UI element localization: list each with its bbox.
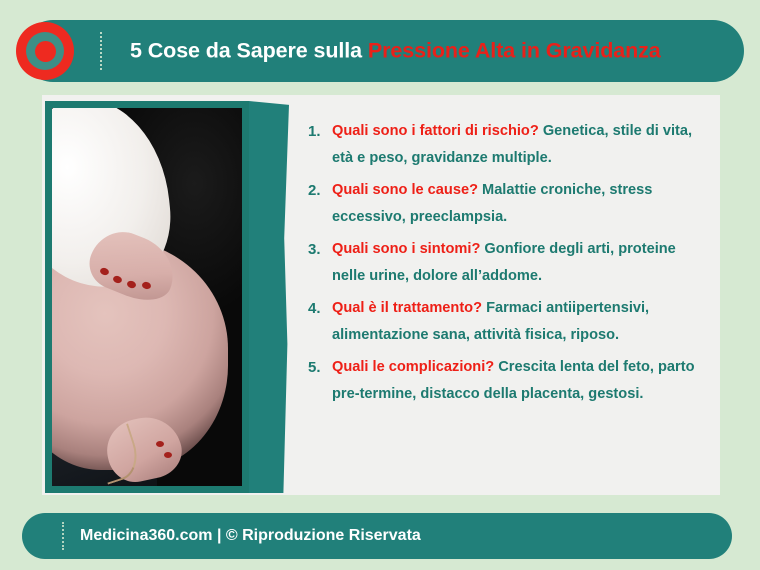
header-bar: 5 Cose da Sapere sulla Pressione Alta in… xyxy=(22,20,744,82)
logo-ring-middle xyxy=(26,32,64,70)
photo-frame xyxy=(45,101,249,493)
pregnant-woman-photo xyxy=(52,108,242,486)
list-item-number: 3. xyxy=(300,236,332,263)
footer-bar: Medicina360.com | © Riproduzione Riserva… xyxy=(22,513,732,559)
list-item-question: Quali sono le cause? xyxy=(332,182,478,198)
target-circles-icon xyxy=(16,22,74,80)
list-item-number: 1. xyxy=(300,118,332,145)
list-item-number: 5. xyxy=(300,354,332,381)
facts-list: 1. Quali sono i fattori di rischio? Gene… xyxy=(300,118,710,413)
footer-attribution: Medicina360.com | © Riproduzione Riserva… xyxy=(80,527,421,545)
list-item-question: Quali sono i sintomi? xyxy=(332,241,480,257)
footer-dotted-divider xyxy=(62,522,64,550)
header-dotted-divider xyxy=(100,32,102,70)
page-title-highlight: Pressione Alta in Gravidanza xyxy=(368,39,661,63)
list-item-question: Quali sono i fattori di rischio? xyxy=(332,123,539,139)
list-item-text: Quali sono i fattori di rischio? Genetic… xyxy=(332,118,710,172)
accent-divider-bar xyxy=(249,101,289,493)
list-item-text: Quali le complicazioni? Crescita lenta d… xyxy=(332,354,710,408)
list-item-number: 4. xyxy=(300,295,332,322)
photo-nail xyxy=(164,452,172,458)
list-item: 3. Quali sono i sintomi? Gonfiore degli … xyxy=(300,236,710,290)
list-item-text: Qual è il trattamento? Farmaci antiipert… xyxy=(332,295,710,349)
list-item-text: Quali sono le cause? Malattie croniche, … xyxy=(332,177,710,231)
list-item: 4. Qual è il trattamento? Farmaci antiip… xyxy=(300,295,710,349)
list-item: 2. Quali sono le cause? Malattie cronich… xyxy=(300,177,710,231)
list-item: 1. Quali sono i fattori di rischio? Gene… xyxy=(300,118,710,172)
page-title: 5 Cose da Sapere sulla Pressione Alta in… xyxy=(130,39,661,64)
list-item-question: Qual è il trattamento? xyxy=(332,300,482,316)
list-item-text: Quali sono i sintomi? Gonfiore degli art… xyxy=(332,236,710,290)
list-item-number: 2. xyxy=(300,177,332,204)
page-title-primary: 5 Cose da Sapere sulla xyxy=(130,39,368,63)
logo-ring-core xyxy=(35,41,56,62)
list-item: 5. Quali le complicazioni? Crescita lent… xyxy=(300,354,710,408)
photo-nail xyxy=(156,441,164,447)
list-item-question: Quali le complicazioni? xyxy=(332,359,494,375)
